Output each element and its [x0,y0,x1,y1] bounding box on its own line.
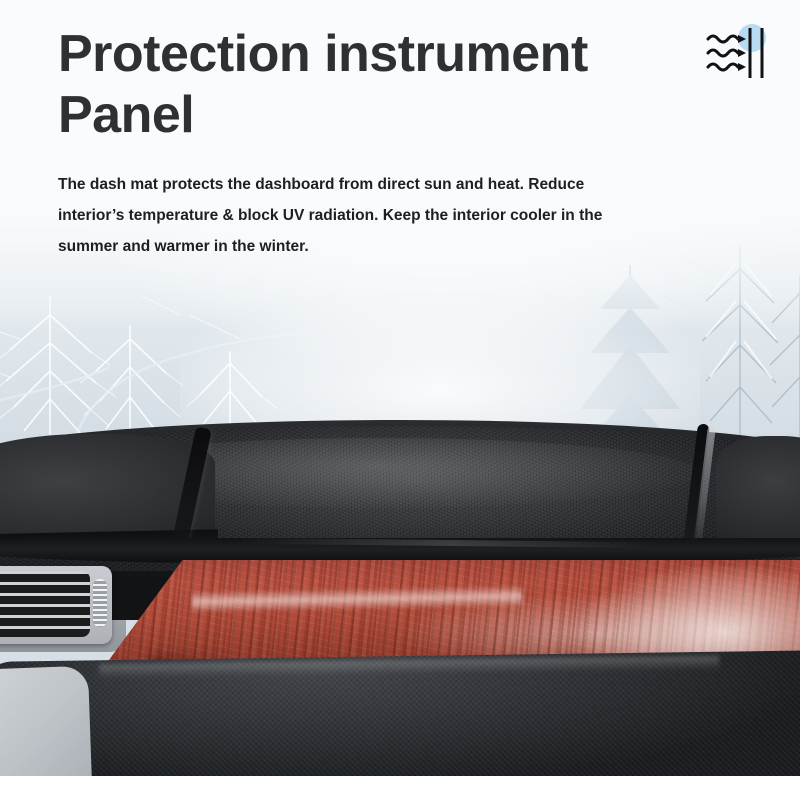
dash-mat-right-panel [716,436,800,548]
page-description: The dash mat protects the dashboard from… [0,147,800,262]
heat-wave-arrows-icon [708,36,738,70]
dashboard-assembly [0,420,800,776]
uv-heat-block-icon [702,22,776,84]
air-vent-louvres [0,571,90,637]
air-vent [0,566,112,644]
product-poster: Protection instrument Panel The dash mat… [0,0,800,800]
glove-box-panel [0,666,92,776]
page-title: Protection instrument Panel [0,0,800,147]
header: Protection instrument Panel The dash mat… [0,0,800,262]
lower-dashboard [0,650,800,776]
air-vent-thumbwheel [93,579,107,627]
